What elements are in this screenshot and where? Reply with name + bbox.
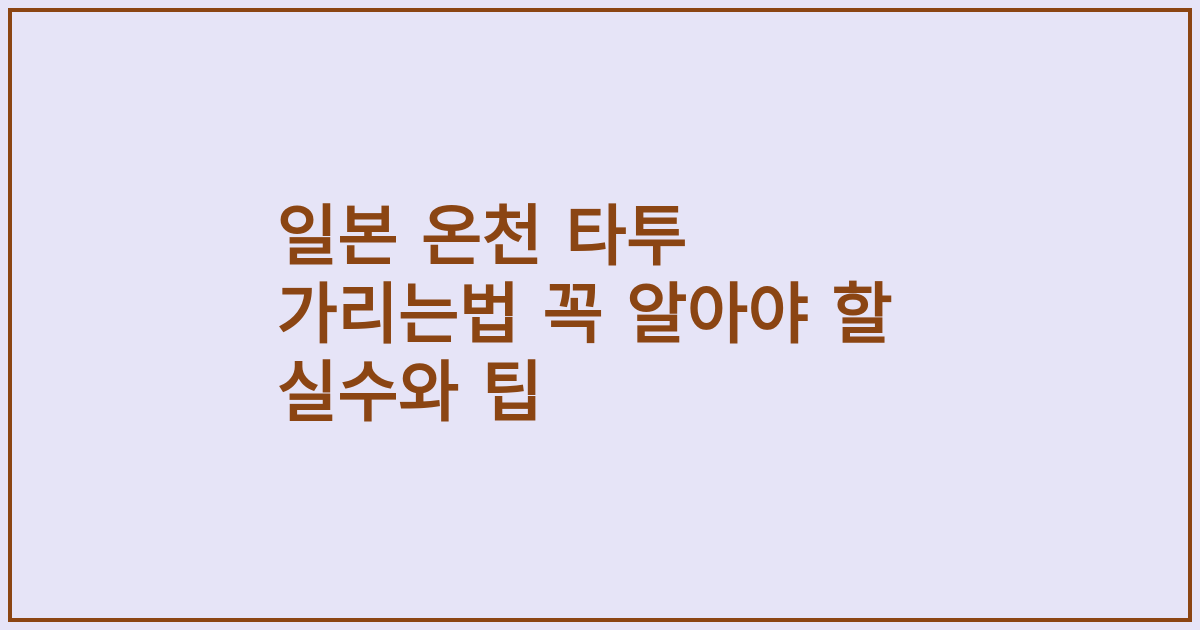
thumbnail-card: 일본 온천 타투 가리는법 꼭 알아야 할 실수와 팁 — [0, 0, 1200, 630]
title-line-2: 가리는법 꼭 알아야 할 — [277, 276, 1037, 354]
title-line-1: 일본 온천 타투 — [277, 198, 1037, 276]
title-line-3: 실수와 팁 — [277, 354, 1037, 432]
page-title: 일본 온천 타투 가리는법 꼭 알아야 할 실수와 팁 — [277, 198, 1037, 432]
card-border-frame: 일본 온천 타투 가리는법 꼭 알아야 할 실수와 팁 — [8, 8, 1192, 622]
